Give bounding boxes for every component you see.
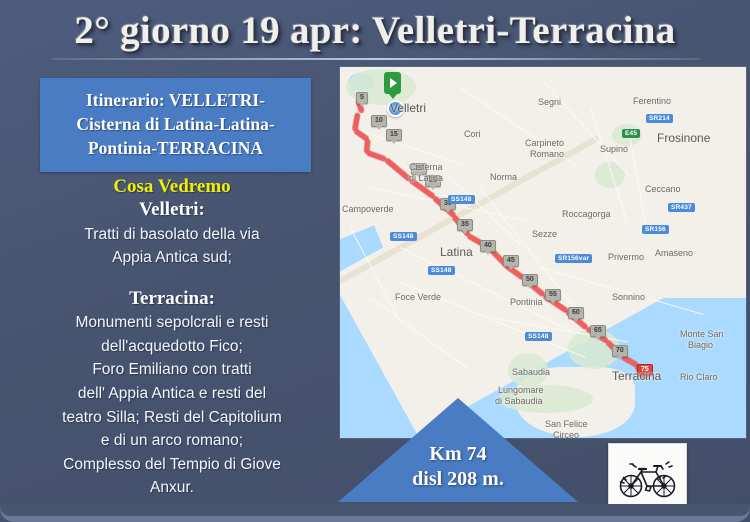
terracina-line-1: Monumenti sepolcrali e resti xyxy=(22,311,322,335)
km-marker-15[interactable]: 15 xyxy=(386,129,402,141)
map-label-velletri: Velletri xyxy=(390,101,426,115)
terracina-line-7: Complesso del Tempio di Giove xyxy=(22,453,322,477)
itinerary-box: Itinerario: VELLETRI- Cisterna di Latina… xyxy=(40,78,311,172)
km-marker-40[interactable]: 40 xyxy=(480,240,496,252)
play-icon xyxy=(390,78,397,88)
slide-bottom-frame-inner xyxy=(0,504,750,516)
page-title: 2° giorno 19 apr: Velletri-Terracina xyxy=(0,8,750,53)
km-marker-60[interactable]: 60 xyxy=(568,307,584,319)
route-map[interactable]: 5 10 15 20 25 30 35 40 45 50 55 60 65 70… xyxy=(340,67,746,438)
map-label-supino: Supino xyxy=(600,144,628,154)
section-gap xyxy=(22,270,322,287)
terracina-line-2: dell'acquedotto Fico; xyxy=(22,335,322,359)
road-shield-sr214[interactable]: SR214 xyxy=(646,114,673,123)
stats-text: Km 74 disl 208 m. xyxy=(338,442,578,492)
map-label-ceccano: Ceccano xyxy=(645,184,681,194)
elevation-value: disl 208 m. xyxy=(338,467,578,492)
map-label-ferentino: Ferentino xyxy=(633,96,671,106)
route-start-marker[interactable] xyxy=(384,72,401,94)
road-shield-ss148-a[interactable]: SS148 xyxy=(390,232,417,241)
road-shield-sr156[interactable]: SR156 xyxy=(642,225,669,234)
map-label-foce-verde: Foce Verde xyxy=(395,292,441,302)
velletri-heading: Velletri: xyxy=(22,198,322,223)
road-shield-sr437[interactable]: SR437 xyxy=(668,203,695,212)
distance-value: Km 74 xyxy=(338,442,578,467)
map-label-rio-claro: Rio Claro xyxy=(680,372,718,382)
map-label-carpineto: Carpineto xyxy=(525,138,564,148)
map-label-norma: Norma xyxy=(490,172,517,182)
map-label-romano: Romano xyxy=(530,149,564,159)
title-divider xyxy=(52,58,700,60)
map-label-sonnino: Sonnino xyxy=(612,292,645,302)
km-marker-65[interactable]: 65 xyxy=(590,325,606,337)
km-marker-10[interactable]: 10 xyxy=(371,115,387,127)
slide-root: 2° giorno 19 apr: Velletri-Terracina Iti… xyxy=(0,0,750,522)
road-shield-ss148-b[interactable]: SS148 xyxy=(428,266,455,275)
itinerary-line-3: Pontinia-TERRACINA xyxy=(48,136,303,160)
map-label-segni: Segni xyxy=(538,97,561,107)
map-label-di-latina: di Latina xyxy=(409,173,443,183)
map-label-roccagorga: Roccagorga xyxy=(562,209,611,219)
terracina-line-5: teatro Silla; Resti del Capitolium xyxy=(22,406,322,430)
km-marker-55[interactable]: 55 xyxy=(545,289,561,301)
road-shield-e45[interactable]: E45 xyxy=(622,129,640,138)
map-label-cisterna: Cisterna xyxy=(409,162,443,172)
terracina-heading: Terracina: xyxy=(22,287,322,312)
road-shield-sr156var[interactable]: SR156var xyxy=(555,254,592,263)
map-label-sabaudia: Sabaudia xyxy=(512,367,550,377)
map-label-terracina: Terracina xyxy=(612,369,661,383)
bicycle-icon-box xyxy=(608,443,687,512)
road-shield-ss148-d[interactable]: SS148 xyxy=(448,195,475,204)
km-marker-70[interactable]: 70 xyxy=(612,345,628,357)
map-label-cori: Cori xyxy=(464,129,481,139)
cosa-vedremo-heading: Cosa Vedremo xyxy=(22,176,322,198)
map-label-campoverde: Campoverde xyxy=(342,204,394,214)
map-label-lungomare: Lungomare xyxy=(498,385,544,395)
velletri-line-1: Tratti di basolato della via xyxy=(22,223,322,247)
km-marker-45[interactable]: 45 xyxy=(503,255,519,267)
velletri-line-2: Appia Antica sud; xyxy=(22,246,322,270)
map-label-latina: Latina xyxy=(440,245,473,259)
km-marker-5[interactable]: 5 xyxy=(356,92,368,104)
terracina-line-4: dell' Appia Antica e resti del xyxy=(22,382,322,406)
stats-triangle: Km 74 disl 208 m. xyxy=(338,398,578,502)
map-label-monte-san: Monte San xyxy=(680,329,724,339)
map-label-sezze: Sezze xyxy=(532,229,557,239)
slide-bottom-frame xyxy=(0,504,750,522)
map-label-priverno: Privermo xyxy=(608,252,644,262)
road-shield-ss148-c[interactable]: SS148 xyxy=(525,332,552,341)
itinerary-line-1: Itinerario: VELLETRI- xyxy=(48,88,303,112)
terracina-line-3: Foro Emiliano con tratti xyxy=(22,358,322,382)
terracina-line-8: Anxur. xyxy=(22,476,322,500)
map-label-amaseno: Amaseno xyxy=(655,248,693,258)
map-label-biagio: Biagio xyxy=(688,340,713,350)
left-content-block: Cosa Vedremo Velletri: Tratti di basolat… xyxy=(22,176,322,500)
map-label-pontinia: Pontinia xyxy=(510,297,543,307)
terracina-line-6: e di un arco romano; xyxy=(22,429,322,453)
map-label-frosinone: Frosinone xyxy=(657,131,710,145)
bicycle-icon xyxy=(617,455,679,501)
itinerary-line-2: Cisterna di Latina-Latina- xyxy=(48,112,303,136)
km-marker-35[interactable]: 35 xyxy=(457,219,473,231)
km-marker-50[interactable]: 50 xyxy=(522,274,538,286)
